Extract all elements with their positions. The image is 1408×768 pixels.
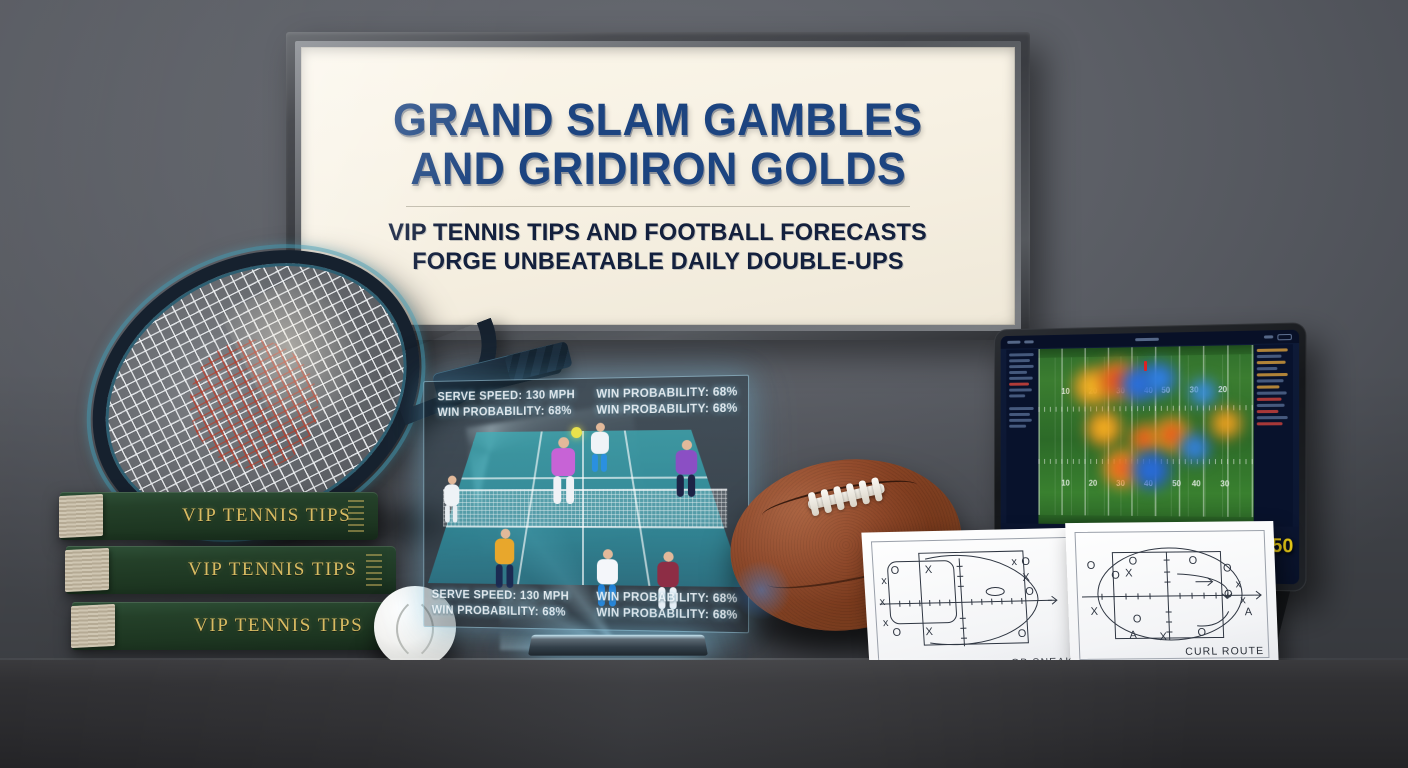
- svg-text:X: X: [1090, 606, 1098, 618]
- hud-serve-speed-bottom: SERVE SPEED: 130 MPH: [432, 589, 569, 603]
- book-item: VIP TENNIS TIPS: [60, 492, 378, 540]
- book-pages: [71, 604, 115, 648]
- hud-win-probability-bottom-left: WIN PROBABILITY: 68%: [432, 605, 566, 619]
- book-title: VIP TENNIS TIPS: [188, 559, 357, 581]
- yard-marker: 20: [1089, 478, 1098, 487]
- svg-text:O: O: [1224, 588, 1233, 600]
- hologram-display: SERVE SPEED: 130 MPH WIN PROBABILITY: 68…: [423, 375, 749, 634]
- tablet-right-sidebar[interactable]: [1254, 344, 1293, 527]
- svg-text:O: O: [1025, 586, 1035, 598]
- heat-blob: [1187, 378, 1217, 407]
- svg-text:x: x: [1235, 578, 1241, 590]
- svg-text:O: O: [1188, 555, 1197, 567]
- heat-blob: [1129, 450, 1173, 490]
- svg-text:O: O: [890, 565, 900, 577]
- yard-marker: 10: [1061, 387, 1070, 396]
- desk-surface: [0, 660, 1408, 768]
- yard-marker: 40: [1192, 479, 1201, 488]
- football-field-heatmap: 10 20 30 40 50 30 20 10 20 30 40 50 40 3…: [1038, 345, 1253, 526]
- svg-text:X: X: [1022, 572, 1031, 584]
- svg-text:x: x: [881, 575, 888, 587]
- svg-text:O: O: [892, 627, 902, 639]
- svg-text:O: O: [1197, 627, 1206, 639]
- svg-text:O: O: [1017, 628, 1027, 640]
- scene-root: GRAND SLAM GAMBLES AND GRIDIRON GOLDS VI…: [0, 0, 1408, 768]
- book-item: VIP TENNIS TIPS: [66, 546, 396, 594]
- book-pages: [65, 548, 109, 592]
- book-title: VIP TENNIS TIPS: [194, 615, 363, 637]
- svg-text:x: x: [1011, 556, 1018, 568]
- svg-text:x: x: [1240, 594, 1246, 606]
- svg-text:O: O: [1111, 570, 1120, 582]
- hud-win-probability-bottom-right-1: WIN PROBABILITY: 68%: [596, 591, 737, 605]
- svg-text:O: O: [1223, 562, 1232, 574]
- yard-marker: 10: [1061, 478, 1070, 487]
- hologram-glass-panel: SERVE SPEED: 130 MPH WIN PROBABILITY: 68…: [423, 375, 749, 634]
- book-title: VIP TENNIS TIPS: [182, 505, 351, 527]
- tablet-left-sidebar[interactable]: [1006, 349, 1038, 524]
- hud-win-probability-top-left: WIN PROBABILITY: 68%: [437, 405, 571, 419]
- yard-marker: 50: [1172, 479, 1181, 488]
- svg-text:O: O: [1128, 555, 1137, 567]
- svg-text:X: X: [1125, 567, 1133, 579]
- svg-text:x: x: [883, 617, 890, 629]
- tennis-net: [443, 489, 728, 528]
- page-title-line1: GRAND SLAM GAMBLES: [393, 97, 922, 142]
- play-card-label: CURL ROUTE: [1185, 645, 1264, 658]
- svg-text:X: X: [925, 626, 934, 638]
- svg-text:x: x: [879, 596, 886, 608]
- svg-text:O: O: [1021, 556, 1031, 568]
- svg-text:O: O: [1087, 560, 1096, 572]
- svg-text:X: X: [924, 564, 933, 576]
- heat-blob: [1209, 407, 1244, 440]
- svg-text:A: A: [1244, 606, 1252, 618]
- book-pages: [59, 494, 103, 538]
- field-position-marker: [1144, 361, 1147, 371]
- yard-marker: 20: [1218, 385, 1227, 394]
- title-divider: [406, 206, 909, 207]
- yard-marker: 30: [1220, 479, 1229, 488]
- heat-blob: [1084, 408, 1123, 448]
- hud-serve-speed-top: SERVE SPEED: 130 MPH: [437, 389, 575, 403]
- analytics-field-panel: 10 20 30 40 50 30 20 10 20 30 40 50 40 3…: [1006, 344, 1293, 527]
- hud-win-probability-top-right-1: WIN PROBABILITY: 68%: [596, 386, 737, 401]
- svg-text:A: A: [1129, 629, 1137, 641]
- hud-win-probability-bottom-right-2: WIN PROBABILITY: 68%: [596, 607, 737, 622]
- svg-text:X: X: [1159, 631, 1167, 643]
- svg-text:O: O: [1133, 613, 1142, 625]
- page-title-line2: AND GRIDIRON GOLDS: [410, 146, 906, 191]
- tennis-ball-graphic: [571, 427, 582, 438]
- hud-win-probability-top-right-2: WIN PROBABILITY: 68%: [596, 403, 737, 417]
- play-card[interactable]: OO OX OO Ox xA XO AX O CURL ROUTE: [1065, 521, 1279, 669]
- hologram-projector-base: [528, 635, 708, 656]
